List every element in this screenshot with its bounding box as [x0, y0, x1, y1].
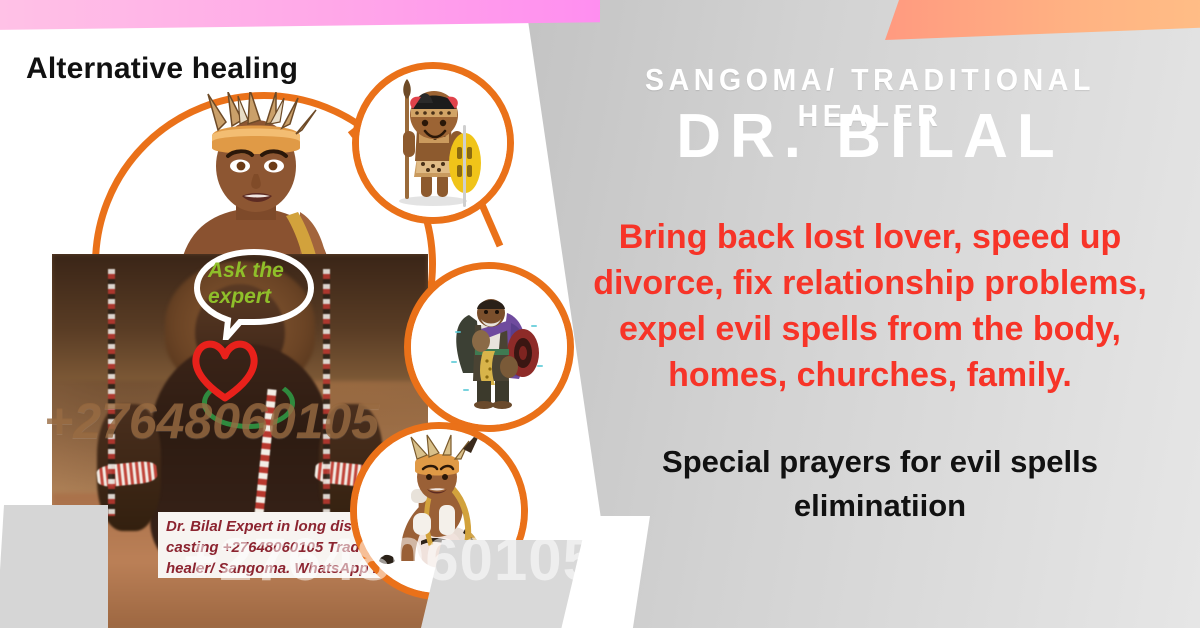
services-line-4: homes, churches, family. — [555, 352, 1185, 398]
phone-watermark: +27648060105 — [110, 525, 670, 594]
special-line-1: Special prayers for evil spells — [585, 440, 1175, 484]
speech-bubble-text: Ask the expert — [208, 258, 304, 310]
speech-bubble-line-1: Ask the — [208, 258, 304, 284]
services-line-1: Bring back lost lover, speed up — [555, 214, 1185, 260]
circle-cartoon-warrior — [352, 62, 514, 224]
services-text: Bring back lost lover, speed up divorce,… — [555, 214, 1185, 398]
special-prayers-text: Special prayers for evil spells eliminat… — [585, 440, 1175, 528]
gray-footer-shape-left — [0, 505, 108, 628]
brand-name: DR. BILAL — [545, 100, 1195, 174]
services-line-3: expel evil spells from the body, — [555, 306, 1185, 352]
photo-phone-watermark: +27648060105 — [44, 392, 379, 450]
services-line-2: divorce, fix relationship problems, — [555, 260, 1185, 306]
speech-bubble-line-2: expert — [208, 284, 304, 310]
cartoon-zulu-warrior-icon — [359, 69, 507, 217]
pink-accent-bar — [0, 0, 600, 30]
special-line-2: eliminatiion — [585, 484, 1175, 528]
traditional-healer-cloak-icon — [411, 269, 567, 425]
poster-canvas: Alternative healing — [0, 0, 1200, 628]
page-title: Alternative healing — [26, 52, 298, 86]
